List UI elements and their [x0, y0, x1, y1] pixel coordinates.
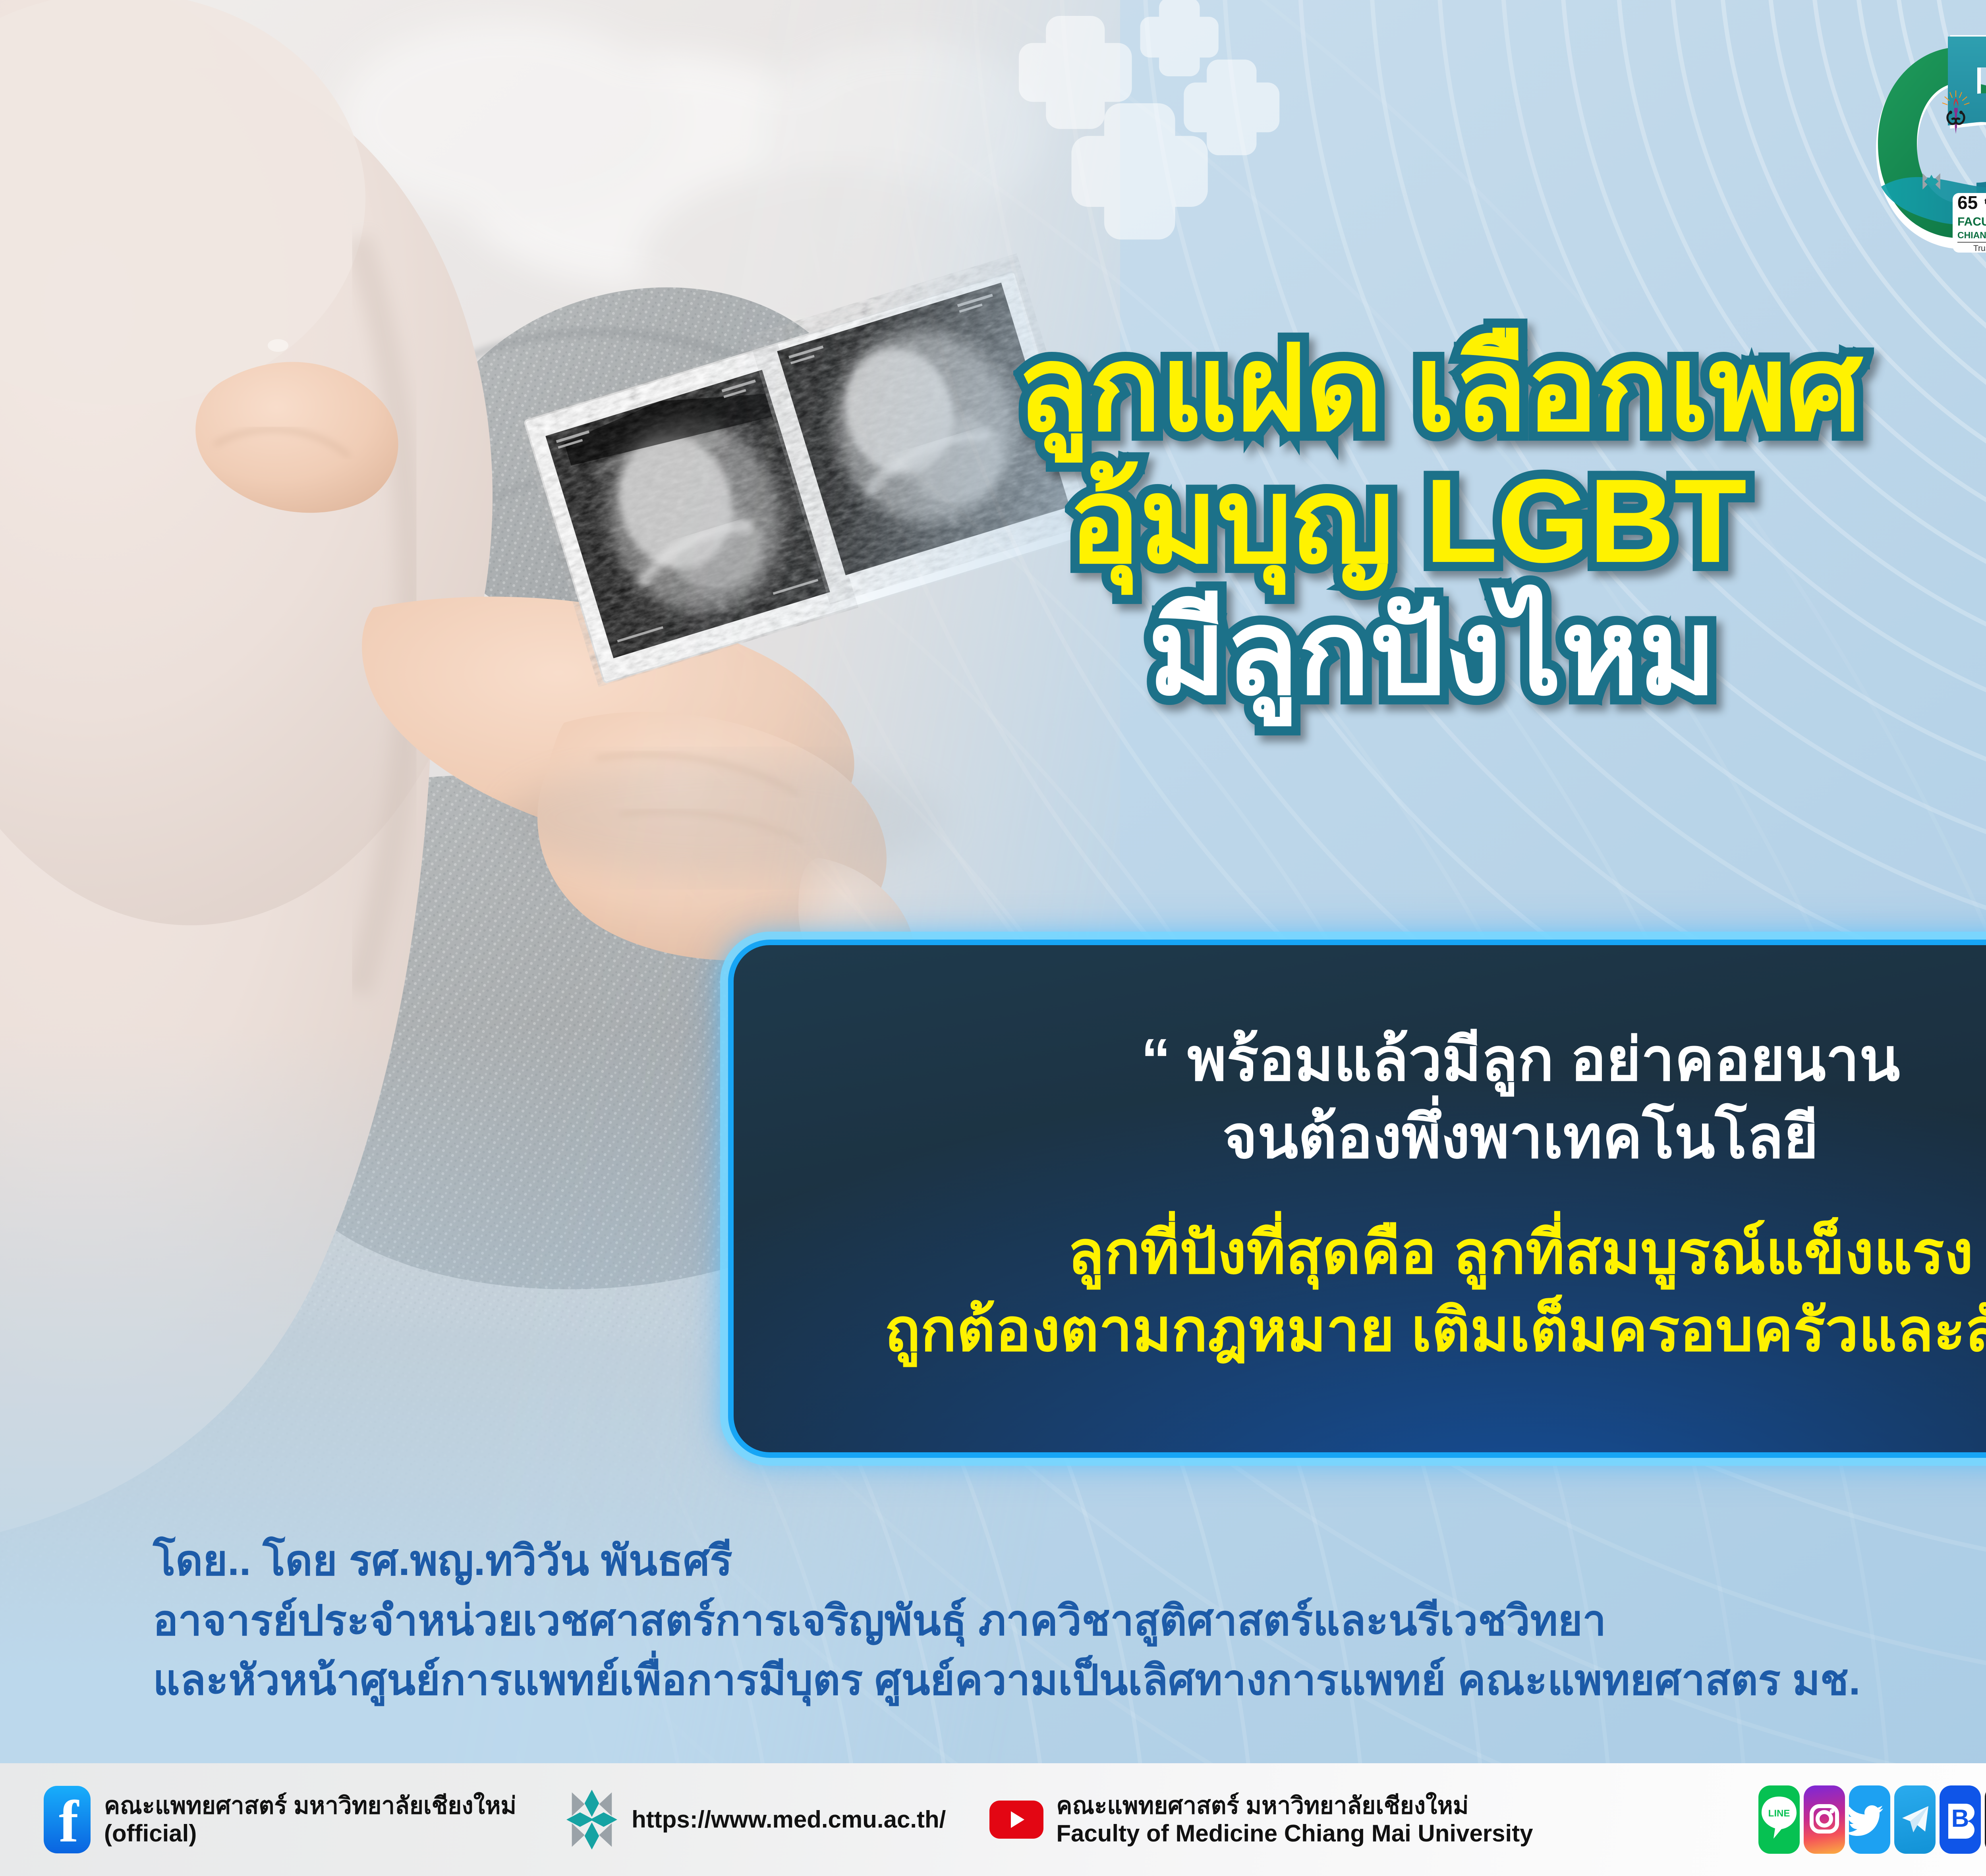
faculty-name: FACULTY OF MEDICINE [1957, 215, 1986, 228]
facebook-label: คณะแพทยศาสตร์ มหาวิทยาลัยเชียงใหม่ (offi… [104, 1792, 516, 1847]
line-icon[interactable]: LINE [1758, 1785, 1800, 1854]
twitter-icon[interactable] [1849, 1785, 1890, 1854]
svg-text:LINE: LINE [1768, 1808, 1790, 1819]
anniversary-th: th [1984, 197, 1986, 206]
quote-white-line-1: “ พร้อมแล้วมีลูก อย่าคอยนาน [1141, 1021, 1900, 1098]
facebook-label-line-2: (official) [104, 1820, 516, 1847]
quote-white-line-2: จนต้องพึ่งพาเทคโนโลยี [1223, 1098, 1818, 1176]
instagram-icon[interactable] [1804, 1785, 1845, 1854]
svg-text:B: B [1951, 1805, 1969, 1832]
facebook-label-line-1: คณะแพทยศาสตร์ มหาวิทยาลัยเชียงใหม่ [104, 1792, 516, 1820]
quote-yellow-line-1: ลูกที่ปังที่สุดคือ ลูกที่สมบูรณ์แข็งแรง [1068, 1214, 1973, 1291]
youtube-group[interactable]: คณะแพทยศาสตร์ มหาวิทยาลัยเชียงใหม่ Facul… [989, 1792, 1533, 1847]
headline-line-3: มีลูกปังไหม [1148, 593, 1986, 711]
youtube-label-line-2: Faculty of Medicine Chiang Mai Universit… [1056, 1820, 1533, 1847]
quote-yellow-text-2: ถูกต้องตามกฎหมาย เติมเต็มครอบครัวและสังค… [885, 1297, 1986, 1363]
university-name: CHIANG MAI UNIVERSITY [1957, 230, 1986, 240]
telegram-icon[interactable] [1894, 1785, 1936, 1854]
headline-line-2: อุ้มบุญ LGBT [1068, 462, 1986, 580]
youtube-label-line-1: คณะแพทยศาสตร์ มหาวิทยาลัยเชียงใหม่ [1056, 1792, 1533, 1820]
facebook-group[interactable]: f คณะแพทยศาสตร์ มหาวิทยาลัยเชียงใหม่ (of… [44, 1786, 516, 1853]
headline: ลูกแฝด เลือกเพศ อุ้มบุญ LGBT มีลูกปังไหม [1017, 330, 1986, 711]
poster-canvas: 65 th ANNIVERSARY FACULTY OF MEDICINE CH… [0, 0, 1986, 1876]
attribution-line-2: อาจารย์ประจำหน่วยเวชศาสตร์การเจริญพันธุ์… [153, 1591, 1986, 1651]
quote-yellow-line-2: ถูกต้องตามกฎหมาย เติมเต็มครอบครัวและสังค… [885, 1291, 1986, 1369]
youtube-icon[interactable] [989, 1801, 1043, 1839]
website-url[interactable]: https://www.med.cmu.ac.th/ [632, 1806, 946, 1834]
headline-line-1: ลูกแฝด เลือกเพศ [1017, 330, 1986, 448]
tagline: Trustworthy Medical School [1973, 244, 1986, 253]
facebook-icon[interactable]: f [44, 1786, 91, 1853]
attribution-block: โดย.. โดย รศ.พญ.ทวิวัน พันธศรี อาจารย์ปร… [153, 1531, 1986, 1710]
blockdit-icon[interactable]: B [1940, 1785, 1981, 1854]
quote-card: “ พร้อมแล้วมีลูก อย่าคอยนาน จนต้องพึ่งพา… [728, 940, 1986, 1458]
quote-white-text-1: พร้อมแล้วมีลูก อย่าคอยนาน [1187, 1026, 1900, 1093]
footer-bar: f คณะแพทยศาสตร์ มหาวิทยาลัยเชียงใหม่ (of… [0, 1763, 1986, 1876]
youtube-label: คณะแพทยศาสตร์ มหาวิทยาลัยเชียงใหม่ Facul… [1056, 1792, 1533, 1847]
facebook-f-glyph: f [59, 1798, 79, 1845]
anniversary-number: 65 [1957, 192, 1978, 213]
website-group[interactable]: https://www.med.cmu.ac.th/ [564, 1788, 946, 1851]
attribution-line-3: และหัวหน้าศูนย์การแพทย์เพื่อการมีบุตร ศู… [153, 1650, 1986, 1710]
cmu-flower-icon [564, 1788, 620, 1851]
quote-open-mark: “ [1141, 1026, 1171, 1093]
attribution-line-1: โดย.. โดย รศ.พญ.ทวิวัน พันธศรี [153, 1531, 1986, 1591]
social-icon-row: LINE [1758, 1785, 1986, 1854]
website-label: https://www.med.cmu.ac.th/ [632, 1806, 946, 1834]
65th-anniversary-logo: 65 th ANNIVERSARY FACULTY OF MEDICINE CH… [1857, 16, 1986, 254]
logo-group: 65 th ANNIVERSARY FACULTY OF MEDICINE CH… [1857, 16, 1986, 254]
